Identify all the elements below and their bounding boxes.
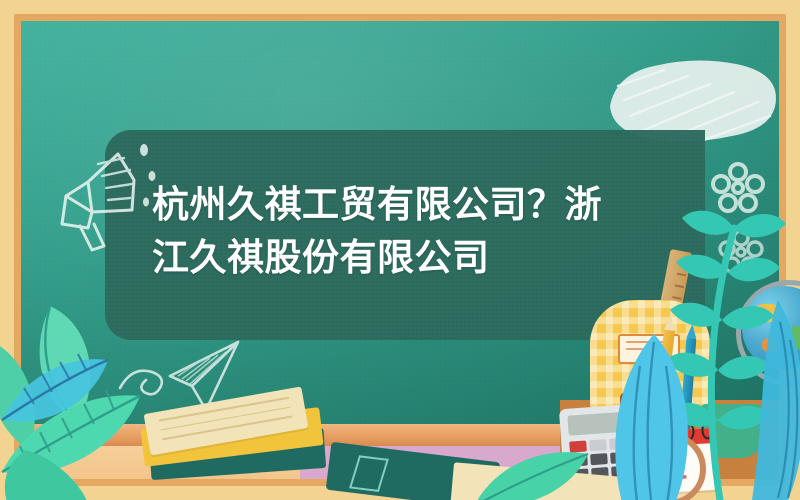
page-title: 杭州久祺工贸有限公司？浙江久祺股份有限公司 bbox=[152, 178, 672, 284]
plant-leaf-blue bbox=[596, 330, 716, 500]
plant-leaves-left bbox=[0, 300, 220, 500]
page-title-line-1: 杭州久祺工贸有限公司？浙 bbox=[152, 184, 602, 225]
poster-canvas: 杭州久祺工贸有限公司？浙江久祺股份有限公司 bbox=[0, 0, 800, 500]
page-title-line-2: 江久祺股份有限公司 bbox=[152, 237, 490, 278]
plant-leaf-bottom bbox=[470, 440, 590, 500]
